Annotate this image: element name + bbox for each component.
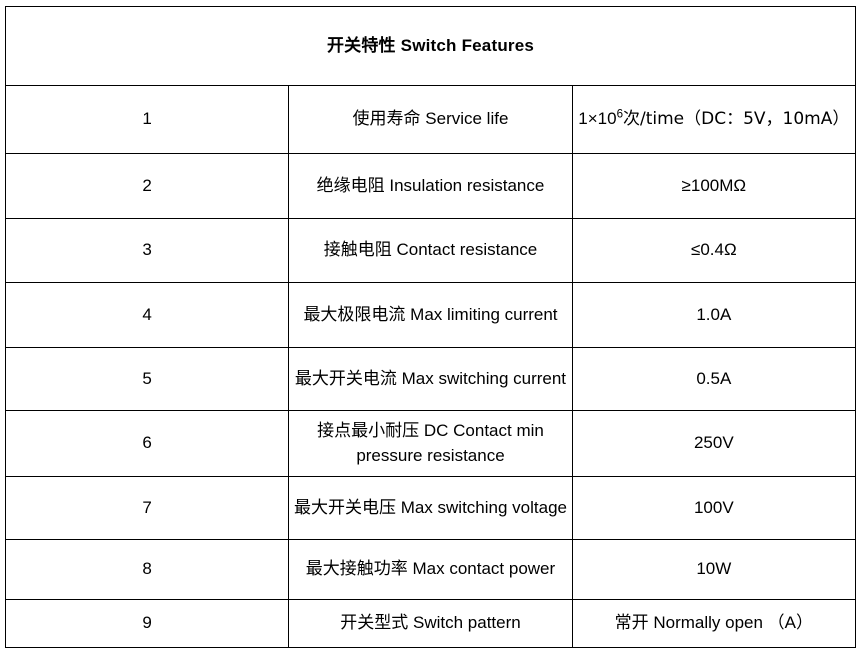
row-value: 常开 Normally open （A） bbox=[572, 600, 855, 648]
row-parameter-name: 最大接触功率 Max contact power bbox=[289, 540, 572, 600]
row-index: 3 bbox=[6, 219, 289, 283]
row-index: 2 bbox=[6, 154, 289, 219]
row-value: 1.0A bbox=[572, 283, 855, 348]
row-value: 0.5A bbox=[572, 348, 855, 411]
row-index: 5 bbox=[6, 348, 289, 411]
row-value-prefix: 1×10 bbox=[578, 109, 616, 128]
row-parameter-name: 使用寿命 Service life bbox=[289, 86, 572, 154]
row-value: 100V bbox=[572, 477, 855, 540]
table-row: 2 绝缘电阻 Insulation resistance ≥100MΩ bbox=[6, 154, 856, 219]
table-row: 7 最大开关电压 Max switching voltage 100V bbox=[6, 477, 856, 540]
page-title: 开关特性 Switch Features bbox=[6, 7, 856, 86]
table-title-row: 开关特性 Switch Features bbox=[6, 7, 856, 86]
spec-sheet: 开关特性 Switch Features 1 使用寿命 Service life… bbox=[0, 0, 862, 632]
row-parameter-name: 最大开关电压 Max switching voltage bbox=[289, 477, 572, 540]
row-value: ≤0.4Ω bbox=[572, 219, 855, 283]
table-row: 3 接触电阻 Contact resistance ≤0.4Ω bbox=[6, 219, 856, 283]
row-parameter-name: 接触电阻 Contact resistance bbox=[289, 219, 572, 283]
table-row: 8 最大接触功率 Max contact power 10W bbox=[6, 540, 856, 600]
row-parameter-name: 接点最小耐压 DC Contact min pressure resistanc… bbox=[289, 411, 572, 477]
row-index: 1 bbox=[6, 86, 289, 154]
table-row: 5 最大开关电流 Max switching current 0.5A bbox=[6, 348, 856, 411]
row-value: ≥100MΩ bbox=[572, 154, 855, 219]
table-row: 9 开关型式 Switch pattern 常开 Normally open （… bbox=[6, 600, 856, 648]
row-value: 10W bbox=[572, 540, 855, 600]
row-parameter-name: 开关型式 Switch pattern bbox=[289, 600, 572, 648]
row-parameter-name: 最大极限电流 Max limiting current bbox=[289, 283, 572, 348]
row-parameter-name: 绝缘电阻 Insulation resistance bbox=[289, 154, 572, 219]
row-index: 8 bbox=[6, 540, 289, 600]
table-row: 4 最大极限电流 Max limiting current 1.0A bbox=[6, 283, 856, 348]
table-row: 1 使用寿命 Service life 1×106次/time（DC：5V，10… bbox=[6, 86, 856, 154]
row-value: 1×106次/time（DC：5V，10mA） bbox=[572, 86, 855, 154]
row-index: 9 bbox=[6, 600, 289, 648]
row-value-suffix: 次/time（DC：5V，10mA） bbox=[623, 109, 849, 129]
row-value: 250V bbox=[572, 411, 855, 477]
row-parameter-name: 最大开关电流 Max switching current bbox=[289, 348, 572, 411]
row-index: 4 bbox=[6, 283, 289, 348]
row-index: 6 bbox=[6, 411, 289, 477]
switch-features-table: 开关特性 Switch Features 1 使用寿命 Service life… bbox=[5, 6, 856, 648]
row-index: 7 bbox=[6, 477, 289, 540]
table-row: 6 接点最小耐压 DC Contact min pressure resista… bbox=[6, 411, 856, 477]
